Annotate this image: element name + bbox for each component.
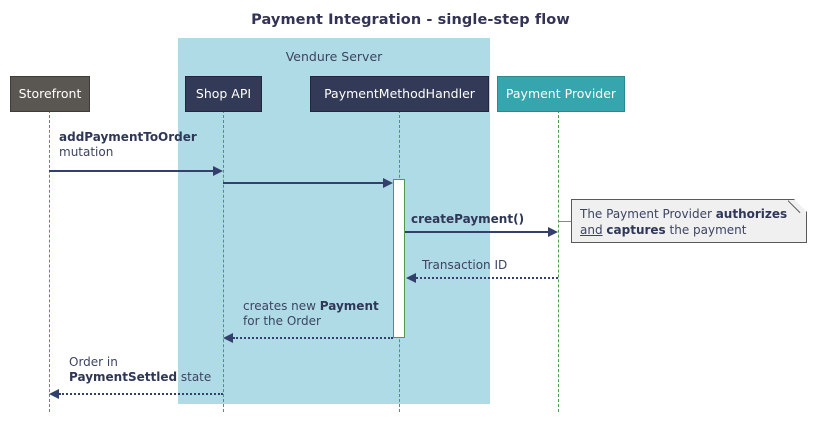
arrowhead-order-payment-settled <box>49 389 59 399</box>
arrowhead-transaction-id <box>406 273 416 283</box>
lifeline-shop-api <box>223 110 224 412</box>
note-prefix: The Payment Provider <box>580 207 716 221</box>
message-label-line2: mutation <box>59 145 113 159</box>
message-arrow-create-payment <box>405 231 548 233</box>
note-bold-captures: captures <box>606 223 665 237</box>
sequence-diagram-canvas: Payment Integration - single-step flow V… <box>0 0 821 422</box>
activation-bar-payment-method-handler <box>393 179 405 338</box>
message-label-add-payment-to-order: addPaymentToOrder mutation <box>59 130 197 160</box>
message-label-create-payment: createPayment() <box>411 212 524 227</box>
note-text: The Payment Provider authorizes and capt… <box>580 206 800 238</box>
arrowhead-creates-new-payment <box>223 333 233 343</box>
message-label-order-payment-settled: Order in PaymentSettled state <box>69 355 211 385</box>
message-arrow-add-payment-to-order <box>49 170 213 172</box>
message-label-line1-prefix: creates new <box>243 299 320 313</box>
lifeline-payment-provider <box>558 110 559 412</box>
message-arrow-transaction-id <box>416 277 558 279</box>
diagram-title: Payment Integration - single-step flow <box>0 12 821 28</box>
note-underline-and: and <box>580 223 603 237</box>
message-label-line1: createPayment() <box>411 212 524 226</box>
lifeline-storefront <box>49 110 50 412</box>
note-payment-provider: The Payment Provider authorizes and capt… <box>571 199 807 243</box>
participant-shop-api[interactable]: Shop API <box>185 76 262 112</box>
message-label-line2-suffix: state <box>177 370 211 384</box>
participant-payment-method-handler[interactable]: PaymentMethodHandler <box>310 76 489 112</box>
note-suffix: the payment <box>666 223 747 237</box>
message-label-line1: Order in <box>69 355 118 369</box>
note-connector-line <box>558 221 571 222</box>
message-arrow-shop-api-to-handler <box>223 182 383 184</box>
note-bold-authorizes: authorizes <box>716 207 787 221</box>
message-label-line1-bold: Payment <box>320 299 379 313</box>
message-label-line1: Transaction ID <box>422 258 507 272</box>
message-label-line1: addPaymentToOrder <box>59 130 197 144</box>
message-label-line2-bold: PaymentSettled <box>69 370 177 384</box>
message-label-creates-new-payment: creates new Payment for the Order <box>243 299 379 329</box>
message-label-transaction-id: Transaction ID <box>422 258 507 273</box>
participant-storefront[interactable]: Storefront <box>10 76 90 112</box>
arrowhead-add-payment-to-order <box>213 166 223 176</box>
vendure-server-group-label: Vendure Server <box>178 49 490 64</box>
message-label-line2: for the Order <box>243 314 321 328</box>
participant-payment-provider[interactable]: Payment Provider <box>497 76 625 112</box>
arrowhead-shop-api-to-handler <box>383 178 393 188</box>
message-arrow-order-payment-settled <box>59 393 223 395</box>
arrowhead-create-payment <box>548 227 558 237</box>
message-arrow-creates-new-payment <box>233 337 393 339</box>
